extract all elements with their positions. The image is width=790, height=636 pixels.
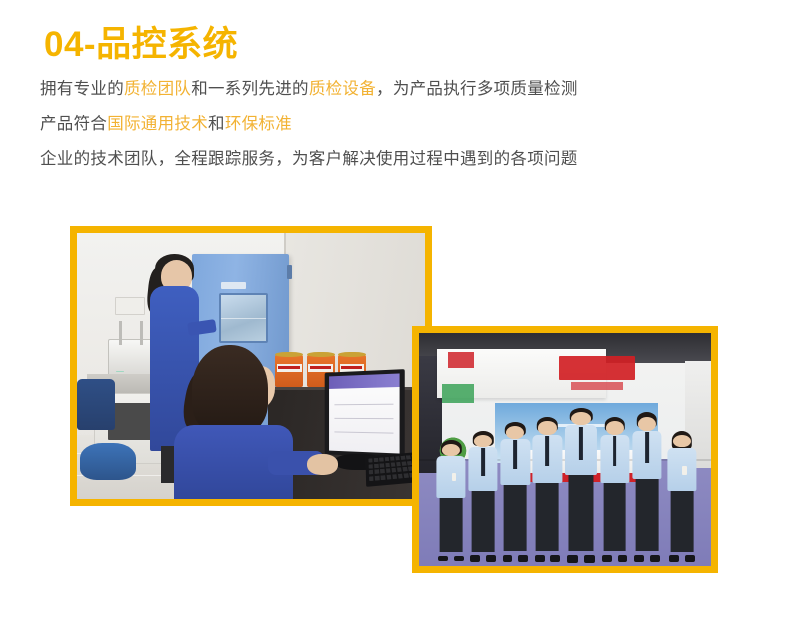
team-member-pants: [440, 498, 463, 552]
team-member-shoe: [634, 555, 644, 562]
team-member-shoe: [669, 555, 679, 561]
booth-brand-subtitle: [571, 382, 624, 390]
balance-display: [116, 371, 123, 372]
monitor-chart-line: [334, 418, 393, 419]
team-member-shoe: [454, 556, 464, 562]
cabinet-hinge: [287, 265, 292, 279]
description-line-2: 产品符合国际通用技术和环保标准: [40, 107, 740, 142]
team-member-pants: [504, 485, 527, 551]
team-member: [533, 417, 562, 557]
lab-scene: [77, 233, 425, 499]
team-member-shoe: [550, 555, 560, 562]
team-member-tie: [613, 436, 617, 465]
team-member-shoe: [618, 555, 628, 562]
office-chair-back: [77, 379, 115, 430]
team-member-shoe: [535, 555, 545, 562]
team-member: [600, 417, 629, 557]
exhibition-scene: [419, 333, 711, 566]
line2-text-part1: 产品符合: [40, 115, 107, 133]
monitor-chart-line: [334, 404, 393, 406]
line1-text-part2: 和一系列先进的: [191, 80, 309, 98]
balance-post: [119, 321, 122, 345]
description-block: 拥有专业的质检团队和一系列先进的质检设备，为产品执行多项质量检测 产品符合国际通…: [40, 72, 740, 177]
team-member-shoe: [503, 555, 513, 562]
team-member-head: [506, 426, 524, 440]
team-member-tie: [481, 448, 485, 476]
team-member-head: [606, 421, 624, 435]
line3-text-part1: 企业的技术团队，全程跟踪服务，为客户解决使用过程中遇到的各项问题: [40, 150, 578, 168]
team-member-pants: [603, 483, 626, 552]
team-member-head: [638, 417, 656, 431]
seated-worker-hand: [307, 454, 338, 475]
monitor-toolbar: [329, 374, 399, 389]
photo-exhibition-frame: 多正树脂展会团队合影 - 八位员工在展位前竖起大拇指: [412, 326, 718, 573]
team-member-badge: [682, 466, 687, 475]
team-member-head: [474, 435, 492, 448]
team-member: [437, 440, 466, 557]
photo-lab-frame: 质检实验室 - 两名身穿蓝色工作服的质检员操作恒温试验箱并记录数据: [70, 226, 432, 506]
team-member-head: [538, 421, 556, 435]
team-member-shoe: [685, 555, 695, 561]
team-member: [632, 412, 661, 556]
resin-can: [275, 355, 303, 387]
cabinet-badge: [221, 282, 246, 289]
line2-highlight-1: 国际通用技术: [107, 115, 208, 133]
team-member-skirt: [670, 491, 693, 551]
line1-highlight-1: 质检团队: [124, 80, 191, 98]
computer-monitor: [324, 369, 404, 458]
office-chair-seat: [80, 443, 136, 480]
team-member-head: [442, 444, 460, 457]
photo-lab-image: 质检实验室 - 两名身穿蓝色工作服的质检员操作恒温试验箱并记录数据: [77, 233, 425, 499]
team-member-shoe: [567, 555, 578, 562]
balance-post: [140, 321, 143, 345]
team-member-pants: [569, 475, 594, 551]
page-title: 04-品控系统: [44, 16, 238, 67]
line1-highlight-2: 质检设备: [309, 80, 376, 98]
team-member-shoe: [518, 555, 528, 562]
team-member-shoe: [584, 555, 595, 562]
monitor-chart-line: [334, 432, 393, 434]
team-member: [501, 422, 530, 557]
line1-text-part3: ，为产品执行多项质量检测: [376, 80, 578, 98]
team-member-badge: [452, 473, 457, 481]
line1-text-part1: 拥有专业的: [40, 80, 124, 98]
team-member-shoe: [438, 556, 448, 562]
description-line-3: 企业的技术团队，全程跟踪服务，为客户解决使用过程中遇到的各项问题: [40, 142, 740, 177]
team-member-pants: [472, 491, 495, 551]
team-member-tie: [579, 427, 583, 460]
resin-can-label: [308, 364, 332, 372]
resin-can-label: [277, 364, 301, 372]
team-member-shoe: [650, 555, 660, 562]
team-member-head: [673, 435, 691, 448]
photo-exhibition-image: 多正树脂展会团队合影 - 八位员工在展位前竖起大拇指: [419, 333, 711, 566]
cabinet-viewing-window: [219, 293, 268, 343]
team-member: [469, 431, 498, 557]
team-member-pants: [536, 483, 559, 552]
team-member-head: [571, 412, 591, 425]
team-member-tie: [645, 432, 649, 462]
team-member-tie: [513, 440, 517, 468]
team-member-shoe: [602, 555, 612, 562]
team-member-shoe: [470, 555, 480, 561]
team-member: [667, 431, 696, 557]
team-member-tie: [546, 436, 550, 465]
booth-neighbor-logo-red: [448, 352, 474, 368]
description-line-1: 拥有专业的质检团队和一系列先进的质检设备，为产品执行多项质量检测: [40, 72, 740, 107]
monitor-screen: [329, 374, 399, 454]
line2-highlight-2: 环保标准: [225, 115, 292, 133]
team-member-shoe: [486, 555, 496, 561]
booth-brand-sign: [559, 356, 635, 379]
team-member-pants: [635, 479, 658, 551]
seated-worker-hair: [192, 345, 269, 435]
wall-outlet: [115, 297, 145, 315]
team-member: [565, 408, 597, 557]
line2-text-part2: 和: [208, 115, 225, 133]
booth-neighbor-logo-green: [442, 384, 474, 403]
